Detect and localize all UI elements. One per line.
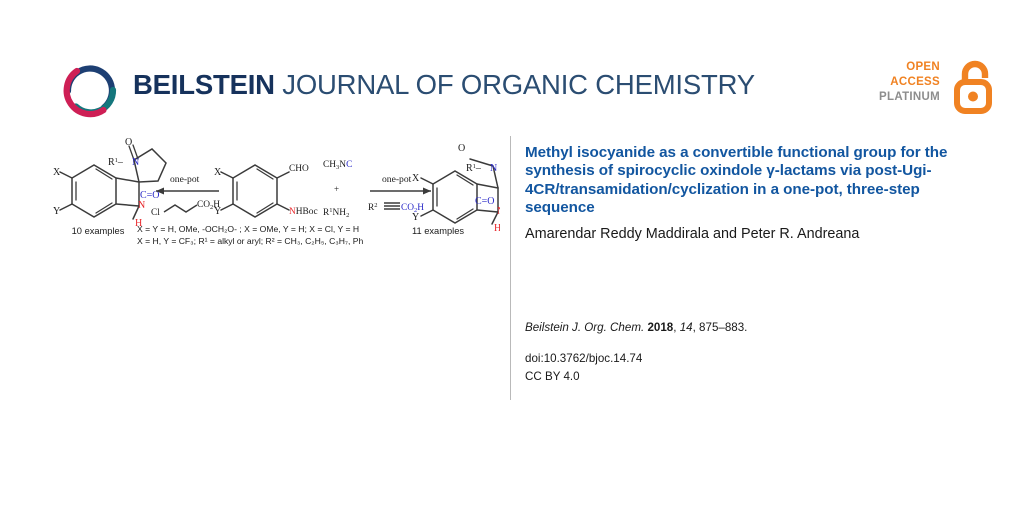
article-authors: Amarendar Reddy Maddirala and Peter R. A…	[525, 225, 975, 243]
svg-text:R1–: R1–	[108, 157, 124, 168]
svg-text:R1NH2: R1NH2	[323, 207, 349, 219]
article-title: Methyl isocyanide as a convertible funct…	[525, 144, 975, 217]
journal-cover-page: BEILSTEIN JOURNAL OF ORGANIC CHEMISTRY O…	[0, 0, 1024, 512]
beilstein-triple-arc-logo-icon	[56, 57, 124, 125]
open-lock-icon	[952, 58, 998, 114]
svg-text:N: N	[490, 163, 497, 174]
svg-text:X: X	[412, 173, 420, 184]
journal-wordmark: BEILSTEIN JOURNAL OF ORGANIC CHEMISTRY	[133, 69, 755, 101]
svg-text:O: O	[458, 143, 465, 154]
article-doi[interactable]: doi:10.3762/bjoc.14.74	[525, 350, 642, 368]
svg-text:Cl: Cl	[151, 208, 160, 218]
svg-text:+: +	[334, 184, 339, 194]
left-product-caption: 10 examples	[48, 226, 148, 236]
citation-volume: 14	[680, 321, 693, 334]
article-license[interactable]: CC BY 4.0	[525, 368, 642, 386]
svg-text:Y: Y	[53, 206, 60, 217]
citation-pages: 875–883.	[699, 321, 747, 334]
article-meta: doi:10.3762/bjoc.14.74 CC BY 4.0	[525, 350, 642, 385]
legend-line-1: X = Y = H, OMe, -OCH₂O- ; X = OMe, Y = H…	[137, 224, 437, 236]
open-access-line3: PLATINUM	[879, 90, 940, 105]
svg-text:H: H	[494, 223, 500, 234]
open-access-line2: ACCESS	[879, 75, 940, 90]
wordmark-beilstein: BEILSTEIN	[133, 69, 275, 100]
svg-text:N: N	[132, 157, 139, 168]
svg-text:X: X	[53, 167, 61, 178]
article-citation: Beilstein J. Org. Chem. 2018, 14, 875–88…	[525, 320, 747, 336]
svg-text:NHBoc: NHBoc	[289, 207, 318, 217]
open-access-line1: OPEN	[879, 60, 940, 75]
svg-text:one-pot: one-pot	[382, 174, 412, 185]
masthead: BEILSTEIN JOURNAL OF ORGANIC CHEMISTRY O…	[0, 0, 1024, 132]
column-divider	[510, 136, 511, 400]
legend-line-2: X = H, Y = CF₃; R¹ = alkyl or aryl; R² =…	[137, 236, 437, 248]
citation-journal: Beilstein J. Org. Chem.	[525, 321, 644, 334]
svg-text:X: X	[214, 167, 222, 178]
citation-year: 2018	[647, 321, 673, 334]
svg-text:C=O: C=O	[475, 196, 495, 207]
svg-text:Y: Y	[214, 206, 221, 217]
svg-text:CH3NC: CH3NC	[323, 160, 352, 171]
svg-text:Y: Y	[412, 212, 419, 223]
svg-text:CHO: CHO	[289, 164, 309, 174]
svg-text:N: N	[497, 206, 500, 217]
substituent-legend: X = Y = H, OMe, -OCH₂O- ; X = OMe, Y = H…	[137, 224, 437, 247]
svg-text:one-pot: one-pot	[170, 174, 200, 185]
svg-text:R1–: R1–	[466, 163, 482, 174]
wordmark-subtitle: JOURNAL OF ORGANIC CHEMISTRY	[275, 69, 755, 100]
open-access-badge: OPEN ACCESS PLATINUM	[888, 58, 998, 120]
svg-text:N: N	[138, 200, 145, 211]
atom-label-O: O	[125, 137, 132, 148]
article-info-column: Methyl isocyanide as a convertible funct…	[525, 144, 975, 243]
svg-text:R2: R2	[368, 202, 378, 213]
